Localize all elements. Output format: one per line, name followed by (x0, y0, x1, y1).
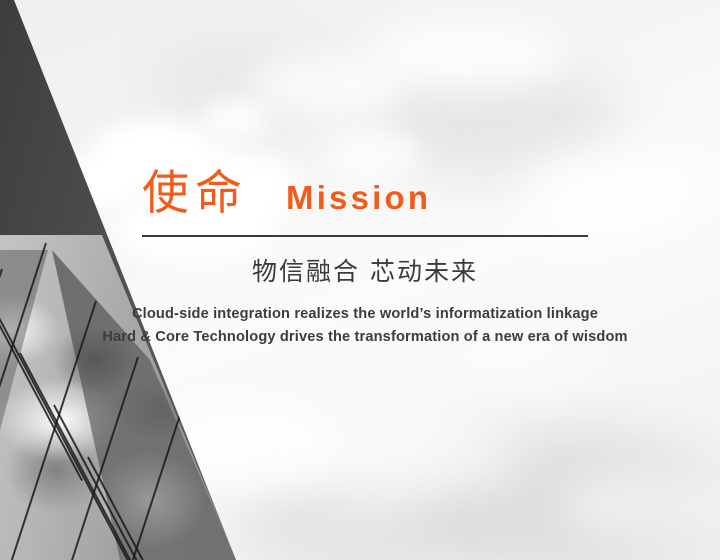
tagline-line-1: Cloud-side integration realizes the worl… (60, 303, 670, 326)
page-title-english: Mission (286, 181, 431, 214)
banner-content: 使命 Mission 物信融合 芯动未来 Cloud-side integrat… (0, 0, 720, 560)
page-title-chinese: 使命 (142, 170, 248, 217)
banner-heading: 使命 Mission (142, 170, 588, 217)
title-divider (142, 235, 588, 237)
tagline-line-2: Hard & Core Technology drives the transf… (60, 326, 670, 349)
mission-banner: 使命 Mission 物信融合 芯动未来 Cloud-side integrat… (0, 0, 720, 560)
subtitle-chinese: 物信融合 芯动未来 (142, 256, 588, 289)
tagline-block: Cloud-side integration realizes the worl… (60, 303, 670, 349)
